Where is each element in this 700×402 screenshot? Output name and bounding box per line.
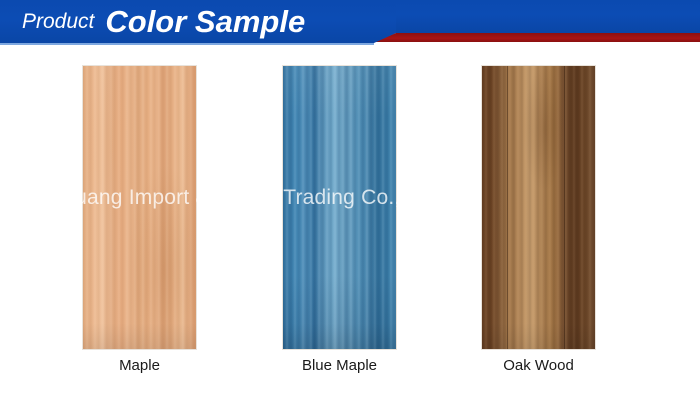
- sample-label-oak-wood: Oak Wood: [461, 357, 616, 374]
- sample-label-maple: Maple: [62, 357, 217, 374]
- sample-list: Maple Blue Maple Oak Wood: [0, 65, 700, 355]
- header-blue-bar-right: [396, 0, 700, 33]
- sample-item-blue-maple[interactable]: Blue Maple: [282, 65, 397, 350]
- oak-wood-swatch[interactable]: [481, 65, 596, 350]
- oak-plank-seam: [507, 66, 508, 349]
- sample-item-oak-wood[interactable]: Oak Wood: [481, 65, 596, 350]
- oak-plank-seam: [564, 66, 565, 349]
- sample-label-blue-maple: Blue Maple: [262, 357, 417, 374]
- swatch-shade: [83, 323, 196, 349]
- page-title: Product Color Sample: [22, 0, 305, 43]
- blue-maple-swatch[interactable]: [282, 65, 397, 350]
- swatch-shade: [482, 323, 595, 349]
- title-main: Color Sample: [105, 4, 305, 40]
- header-underline: [0, 43, 374, 45]
- maple-swatch[interactable]: [82, 65, 197, 350]
- swatch-shade: [283, 323, 396, 349]
- sample-item-maple[interactable]: Maple: [82, 65, 197, 350]
- page-header: Product Color Sample: [0, 0, 700, 50]
- header-red-accent-bar: [374, 33, 700, 42]
- title-prefix: Product: [22, 10, 94, 34]
- color-sample-page: Product Color Sample Maple Blue Maple Oa…: [0, 0, 700, 402]
